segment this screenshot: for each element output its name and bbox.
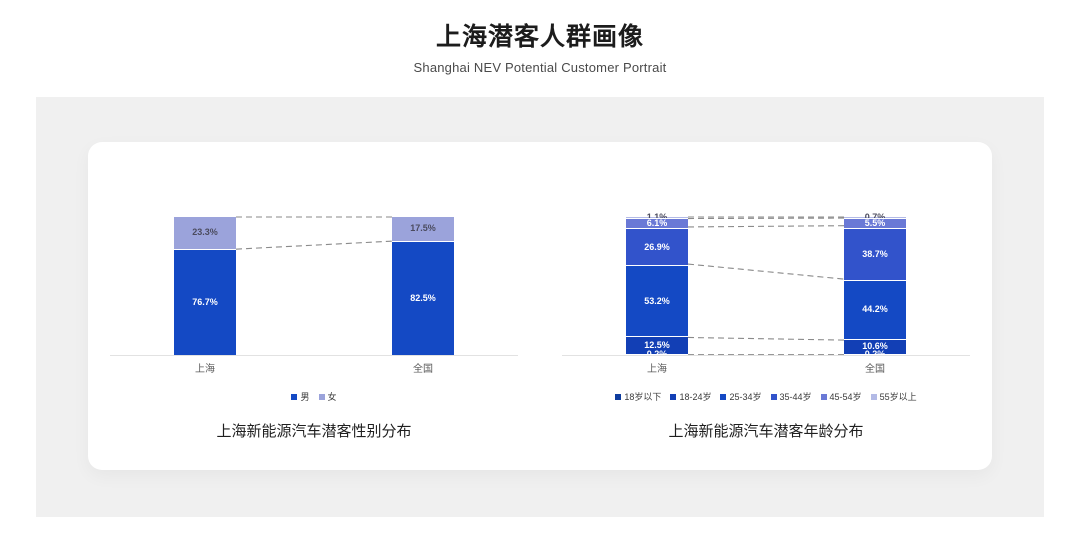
- gender-category-labels: 上海 全国: [88, 360, 540, 376]
- gender-connector-bands: [88, 190, 540, 380]
- age-connector-bands: [540, 190, 992, 380]
- legend-label: 25-34岁: [729, 390, 761, 403]
- bar-segment-label: 23.3%: [192, 228, 218, 237]
- charts-row: 23.3%76.7% 17.5%82.5% 上海 全国 男女 上海新能源汽车潜客…: [88, 142, 992, 470]
- legend-item[interactable]: 18岁以下: [615, 390, 661, 403]
- gender-legend: 男女: [88, 390, 540, 403]
- bar-segment: 26.9%: [626, 228, 688, 265]
- gender-chart-block: 23.3%76.7% 17.5%82.5% 上海 全国 男女 上海新能源汽车潜客…: [88, 142, 540, 470]
- gender-bar-national: 17.5%82.5%: [392, 217, 454, 355]
- gender-category-national: 全国: [392, 360, 454, 375]
- gender-bar-shanghai: 23.3%76.7%: [174, 217, 236, 355]
- legend-item[interactable]: 45-54岁: [821, 390, 862, 403]
- legend-label: 18岁以下: [624, 390, 661, 403]
- bar-segment-label: 6.1%: [647, 219, 668, 228]
- legend-swatch-icon: [670, 394, 676, 400]
- bar-segment-label: 82.5%: [410, 294, 436, 303]
- bar-segment-label: 38.7%: [862, 250, 888, 259]
- legend-item[interactable]: 35-44岁: [771, 390, 812, 403]
- legend-item[interactable]: 55岁以上: [871, 390, 917, 403]
- bar-segment-label: 26.9%: [644, 243, 670, 252]
- bar-segment: 6.1%: [626, 218, 688, 228]
- bar-segment: 76.7%: [174, 249, 236, 355]
- bar-segment-label: 44.2%: [862, 305, 888, 314]
- legend-label: 18-24岁: [679, 390, 711, 403]
- legend-label: 35-44岁: [780, 390, 812, 403]
- bar-segment: 17.5%: [392, 217, 454, 241]
- legend-swatch-icon: [291, 394, 297, 400]
- age-category-national: 全国: [844, 360, 906, 375]
- gender-category-shanghai: 上海: [174, 360, 236, 375]
- page-header: 上海潜客人群画像 Shanghai NEV Potential Customer…: [0, 0, 1080, 75]
- connector-line: [688, 264, 844, 279]
- age-axis-line: [562, 355, 970, 356]
- legend-label: 男: [300, 390, 309, 403]
- legend-swatch-icon: [771, 394, 777, 400]
- legend-swatch-icon: [615, 394, 621, 400]
- age-bar-national: 0.7%5.5%38.7%44.2%10.6%0.2%: [844, 217, 906, 355]
- connector-line: [688, 337, 844, 340]
- age-category-labels: 上海 全国: [540, 360, 992, 376]
- connector-line: [688, 226, 844, 227]
- age-category-shanghai: 上海: [626, 360, 688, 375]
- legend-swatch-icon: [319, 394, 325, 400]
- legend-item[interactable]: 男: [291, 390, 309, 403]
- age-chart-caption: 上海新能源汽车潜客年龄分布: [540, 420, 992, 441]
- legend-label: 55岁以上: [880, 390, 917, 403]
- bar-segment: 82.5%: [392, 241, 454, 355]
- legend-item[interactable]: 18-24岁: [670, 390, 711, 403]
- legend-label: 45-54岁: [830, 390, 862, 403]
- age-legend: 18岁以下18-24岁25-34岁35-44岁45-54岁55岁以上: [540, 390, 992, 403]
- bar-segment: 53.2%: [626, 265, 688, 336]
- legend-swatch-icon: [821, 394, 827, 400]
- page-subtitle: Shanghai NEV Potential Customer Portrait: [0, 60, 1080, 75]
- age-chart-block: 1.1%6.1%26.9%53.2%12.5%0.2% 0.7%5.5%38.7…: [540, 142, 992, 470]
- page-title: 上海潜客人群画像: [0, 22, 1080, 53]
- bar-segment-label: 5.5%: [865, 219, 886, 228]
- bar-segment-label: 53.2%: [644, 297, 670, 306]
- gender-plot-area: 23.3%76.7% 17.5%82.5% 上海 全国: [88, 190, 540, 380]
- gender-axis-line: [110, 355, 518, 356]
- gender-chart-caption: 上海新能源汽车潜客性别分布: [88, 420, 540, 441]
- bar-segment: 5.5%: [844, 218, 906, 228]
- bar-segment: 23.3%: [174, 217, 236, 249]
- age-bar-shanghai: 1.1%6.1%26.9%53.2%12.5%0.2%: [626, 217, 688, 355]
- legend-swatch-icon: [720, 394, 726, 400]
- legend-label: 女: [328, 390, 337, 403]
- connector-line: [236, 241, 392, 249]
- legend-item[interactable]: 25-34岁: [720, 390, 761, 403]
- bar-segment-label: 17.5%: [410, 224, 436, 233]
- age-plot-area: 1.1%6.1%26.9%53.2%12.5%0.2% 0.7%5.5%38.7…: [540, 190, 992, 380]
- bar-segment-label: 76.7%: [192, 298, 218, 307]
- bar-segment: 44.2%: [844, 280, 906, 339]
- legend-swatch-icon: [871, 394, 877, 400]
- legend-item[interactable]: 女: [319, 390, 337, 403]
- bar-segment: 38.7%: [844, 228, 906, 280]
